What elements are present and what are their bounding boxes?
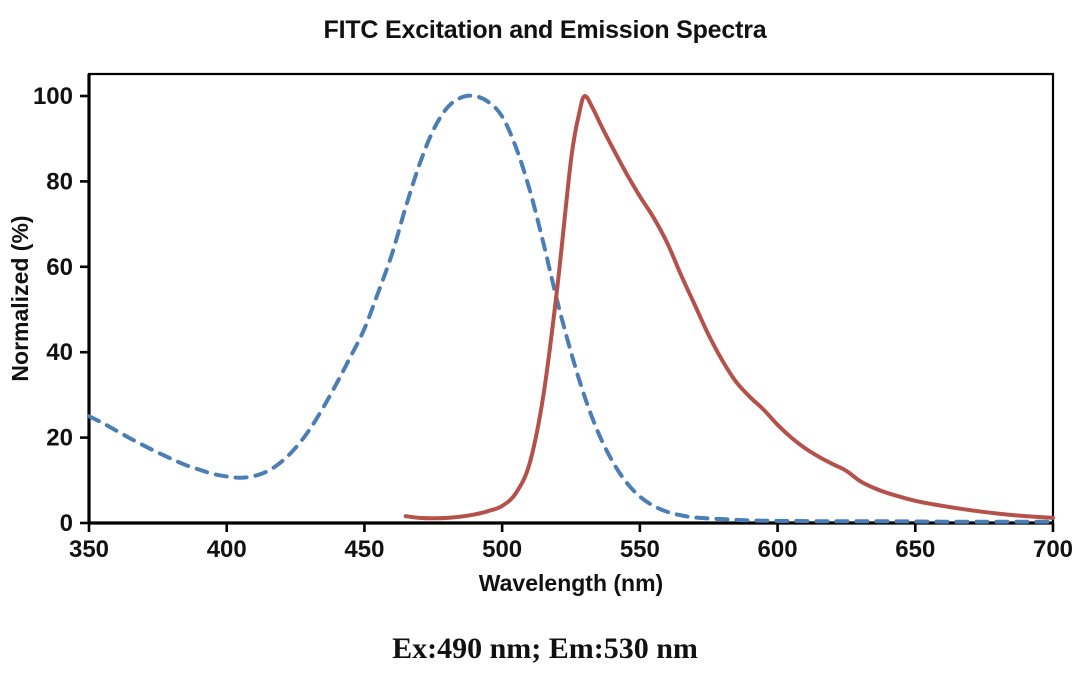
y-axis-title: Normalized (%): [7, 215, 33, 381]
chart-caption: Ex:490 nm; Em:530 nm: [0, 632, 1090, 666]
y-tick-label: 40: [46, 339, 73, 366]
y-tick-label: 80: [46, 168, 73, 195]
x-tick-label: 650: [895, 536, 935, 563]
y-tick-label: 0: [60, 510, 73, 537]
x-tick-label: 700: [1033, 536, 1073, 563]
x-tick-label: 450: [344, 536, 384, 563]
x-tick-label: 500: [482, 536, 522, 563]
x-axis-title: Wavelength (nm): [479, 570, 663, 596]
x-tick-label: 350: [69, 536, 109, 563]
x-tick-label: 400: [207, 536, 247, 563]
series-emission: [406, 96, 1053, 518]
figure-container: FITC Excitation and Emission Spectra 020…: [0, 0, 1090, 699]
y-tick-label: 100: [33, 83, 73, 110]
spectra-plot: 020406080100350400450500550600650700Wave…: [0, 0, 1090, 699]
y-tick-label: 60: [46, 254, 73, 281]
y-tick-label: 20: [46, 425, 73, 452]
x-tick-label: 600: [758, 536, 798, 563]
x-tick-label: 550: [620, 536, 660, 563]
